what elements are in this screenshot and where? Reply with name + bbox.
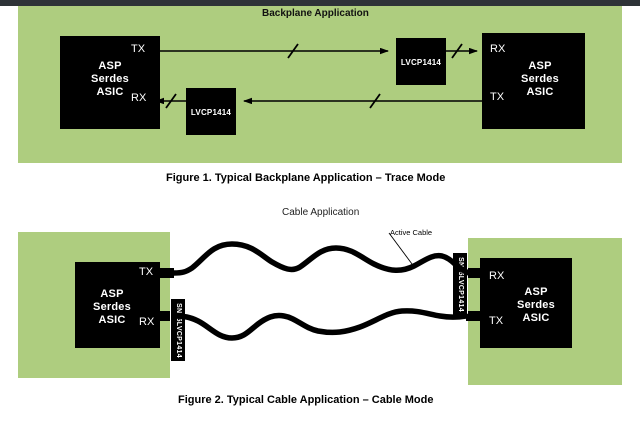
figure2-right-asic-name-line2: Serdes [508, 299, 564, 311]
figure2-left-asic-rx-port: RX [139, 316, 154, 328]
figure2-right-tx-cable-stub [466, 311, 480, 321]
figure1-right-asic-rx-port: RX [490, 43, 505, 55]
figure2-left-cable-connector: SN65LVCP1414 [170, 298, 186, 362]
figure1-caption: Figure 1. Typical Backplane Application … [166, 172, 445, 184]
figure1-right-asic-tx-port: TX [490, 91, 504, 103]
diagram-canvas: Backplane Application ASP Serdes ASIC TX… [0, 0, 640, 424]
figure2-left-asic-name-line1: ASP [84, 288, 140, 300]
figure1-left-asic-name-line3: ASIC [82, 86, 138, 98]
figure1-left-asic-tx-port: TX [131, 43, 145, 55]
figure1-right-asic-name-line1: ASP [512, 60, 568, 72]
figure2-left-asic-name-line2: Serdes [84, 301, 140, 313]
figure2-right-asic-tx-port: TX [489, 315, 503, 327]
figure1-left-asic-name-line1: ASP [82, 60, 138, 72]
figure1-right-asic-name-line3: ASIC [512, 86, 568, 98]
figure1-title: Backplane Application [262, 8, 369, 19]
figure2-right-cable-connector-label: SN65LVCP1414 [457, 257, 464, 312]
figure1-left-asic-name-line2: Serdes [82, 73, 138, 85]
figure1-bottom-repeater-label: LVCP1414 [186, 107, 236, 119]
figure2-upper-cable [174, 244, 470, 273]
figure2-right-asic-name-line1: ASP [508, 286, 564, 298]
figure2-right-cable-connector: SN65LVCP1414 [452, 252, 468, 316]
figure2-left-asic-tx-port: TX [139, 266, 153, 278]
figure1-top-repeater-label: LVCP1414 [396, 57, 446, 69]
figure2-lower-cable [174, 311, 466, 338]
figure2-right-asic-name-line3: ASIC [508, 312, 564, 324]
figure2-left-asic-name-line3: ASIC [84, 314, 140, 326]
figure1-right-asic-name-line2: Serdes [512, 73, 568, 85]
figure1-left-asic-rx-port: RX [131, 92, 146, 104]
figure2-left-tx-cable-stub [160, 268, 174, 278]
figure2-title: Cable Application [282, 207, 359, 218]
figure2-left-cable-connector-label: SN65LVCP1414 [175, 303, 182, 358]
figure2-active-cable-leader [389, 233, 412, 264]
figure2-caption: Figure 2. Typical Cable Application – Ca… [178, 394, 434, 406]
figure2-right-rx-cable-stub [466, 268, 480, 278]
figure2-active-cable-annotation: Active Cable [390, 228, 432, 237]
figure2-right-asic-rx-port: RX [489, 270, 504, 282]
